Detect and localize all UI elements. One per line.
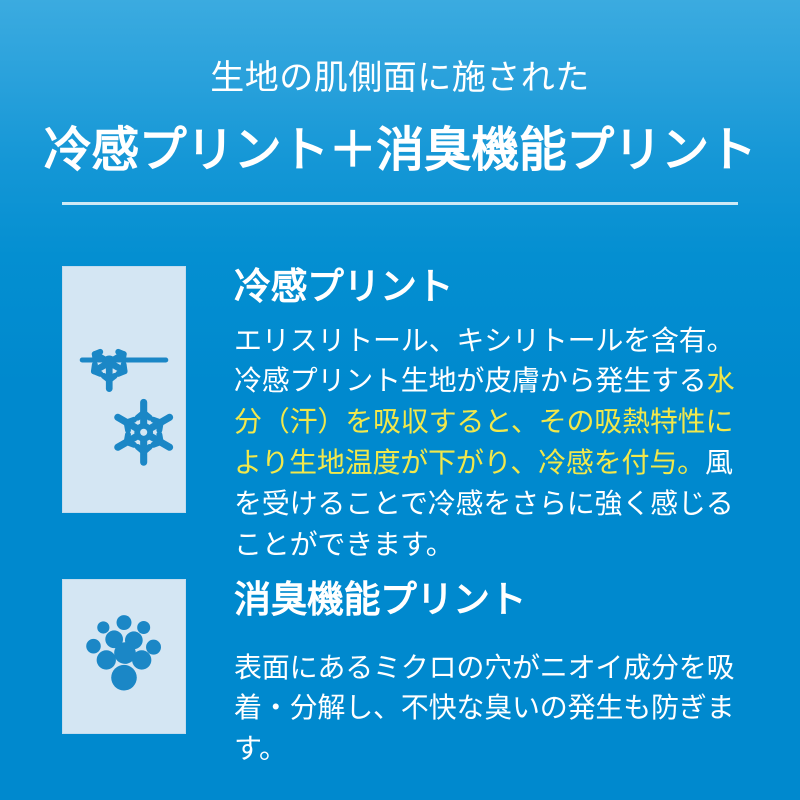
section-text-deodorant: 表面にあるミクロの穴がニオイ成分を吸着・分解し、不快な臭いの発生も防ぎます。 [234, 648, 754, 771]
section-body-cooling: 冷感プリント エリスリトール、キシリトールを含有。冷感プリント生地が皮膚から発生… [234, 266, 754, 566]
header-subtitle: 生地の肌側面に施された [0, 58, 800, 99]
snowflake-icon [63, 267, 185, 512]
section-title-deodorant: 消臭機能プリント [234, 579, 754, 622]
section-body-deodorant: 消臭機能プリント 表面にあるミクロの穴がニオイ成分を吸着・分解し、不快な臭いの発… [234, 579, 754, 770]
micro-pores-dots-icon [63, 580, 185, 733]
section-title-cooling: 冷感プリント [234, 266, 754, 309]
icon-box-deodorant [62, 579, 186, 734]
section-text-cooling: エリスリトール、キシリトールを含有。冷感プリント生地が皮膚から発生する水分（汗）… [234, 321, 754, 566]
text-segment-plain-1: エリスリトール、キシリトールを含有。冷感プリント生地が皮膚から発生する [234, 325, 734, 397]
page-title: 冷感プリント＋消臭機能プリント [0, 122, 800, 180]
promo-infographic: 生地の肌側面に施された 冷感プリント＋消臭機能プリント [0, 0, 800, 800]
icon-box-cooling [62, 266, 186, 513]
header-divider [62, 202, 738, 205]
